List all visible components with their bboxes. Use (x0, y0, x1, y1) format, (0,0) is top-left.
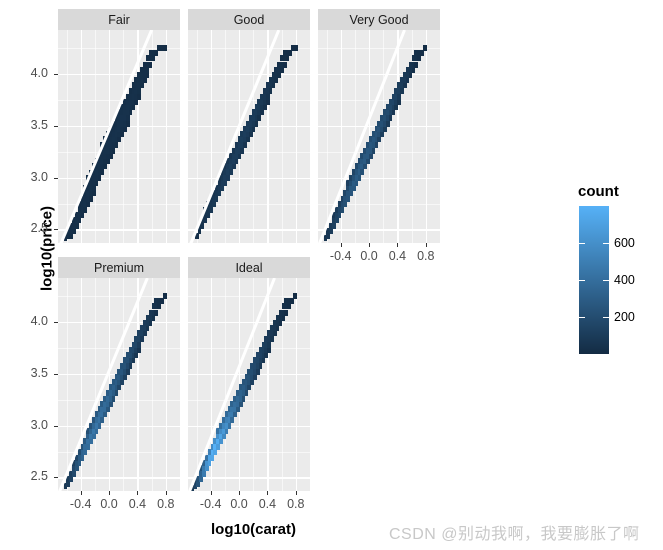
hex-bin (201, 223, 205, 229)
hex-bin (257, 115, 261, 121)
hex-bin (293, 293, 297, 299)
facet-panel-good (188, 30, 310, 243)
hex-bin (360, 169, 364, 175)
y-axis-tick-mark (54, 477, 58, 478)
hex-bin (152, 55, 156, 61)
facet-strip-label: Very Good (349, 13, 408, 27)
gridline-major-horizontal (188, 477, 310, 478)
hex-bin (332, 223, 336, 229)
hex-bin (352, 185, 356, 191)
hex-bin (290, 298, 294, 304)
x-axis-tick-label: 0.8 (271, 497, 321, 511)
gridline-minor-vertical (67, 278, 68, 491)
gridline-minor-horizontal (318, 48, 440, 49)
y-axis-tick-mark (54, 426, 58, 427)
hex-bin (163, 293, 167, 299)
hex-bin (106, 406, 110, 412)
hex-bin (242, 396, 246, 402)
facet-strip-label: Good (234, 13, 265, 27)
hex-bin (163, 45, 167, 51)
hex-bin (264, 352, 268, 358)
hex-bin (259, 363, 263, 369)
gridline-major-horizontal (318, 74, 440, 75)
hex-bin (266, 99, 270, 105)
y-axis-tick-mark (54, 126, 58, 127)
hex-bin (229, 169, 233, 175)
hex-bin (276, 325, 280, 331)
hex-bin (196, 481, 200, 487)
gridline-major-horizontal (188, 322, 310, 323)
hex-bin (375, 142, 379, 148)
gridline-minor-vertical (95, 30, 96, 243)
hex-bin (78, 217, 82, 223)
hex-bin (199, 476, 203, 482)
hex-bin (279, 320, 283, 326)
hex-bin (205, 465, 209, 471)
hex-bin (338, 212, 342, 218)
hex-bin (260, 109, 264, 115)
legend-tick-mark (579, 317, 585, 318)
facet-strip-ideal: Ideal (188, 257, 310, 278)
gridline-minor-vertical (327, 30, 328, 243)
hex-bin (213, 449, 217, 455)
hex-bin (206, 212, 210, 218)
legend-tick-label: 600 (614, 236, 635, 250)
gridline-major-vertical (166, 278, 167, 491)
hex-bin (215, 196, 219, 202)
hex-bin (366, 158, 370, 164)
hex-bin (247, 384, 251, 390)
gridline-major-vertical (296, 30, 297, 243)
hex-bin (250, 379, 254, 385)
hex-bin (249, 131, 253, 137)
gridline-major-horizontal (58, 178, 180, 179)
gridline-minor-horizontal (58, 296, 180, 297)
hex-bin (75, 465, 79, 471)
hex-bin (255, 121, 259, 127)
x-axis-tick-mark (397, 243, 398, 247)
gridline-minor-horizontal (58, 204, 180, 205)
hex-bin (109, 153, 113, 159)
hex-bin (146, 325, 150, 331)
hex-bin (95, 180, 99, 186)
gridline-minor-horizontal (58, 100, 180, 101)
gridline-major-vertical (426, 30, 427, 243)
hex-bin (326, 233, 330, 239)
hex-bin (100, 169, 104, 175)
hex-bin (100, 417, 104, 423)
hex-bin (120, 131, 124, 137)
hex-bin (397, 94, 401, 100)
hex-bin (228, 423, 232, 429)
y-axis-tick-label: 3.5 (0, 118, 48, 132)
hex-bin (256, 369, 260, 375)
hex-bin (269, 88, 273, 94)
hex-bin (203, 217, 207, 223)
hex-bin (219, 438, 223, 444)
hex-bin (75, 223, 79, 229)
x-axis-tick-mark (369, 243, 370, 247)
hex-bin (160, 298, 164, 304)
hex-bin (412, 67, 416, 73)
facet-strip-very-good: Very Good (318, 9, 440, 30)
gridline-major-horizontal (58, 322, 180, 323)
gridline-major-horizontal (318, 229, 440, 230)
hex-bin (243, 142, 247, 148)
x-axis-tick-mark (341, 243, 342, 247)
hex-bin (115, 390, 119, 396)
y-axis-tick-label: 2.5 (0, 221, 48, 235)
hex-bin (343, 201, 347, 207)
facet-strip-good: Good (188, 9, 310, 30)
legend-tick-label: 200 (614, 310, 635, 324)
hex-bin (140, 336, 144, 342)
gridline-minor-vertical (95, 278, 96, 491)
hex-bin (120, 379, 124, 385)
gridline-major-horizontal (58, 477, 180, 478)
hex-bin (270, 336, 274, 342)
gridline-minor-horizontal (318, 100, 440, 101)
gridline-minor-vertical (225, 30, 226, 243)
hex-bin (403, 82, 407, 88)
gridline-major-vertical (397, 30, 398, 243)
legend-tick-label: 400 (614, 273, 635, 287)
hex-bin (208, 460, 212, 466)
hex-bin (414, 62, 418, 68)
hex-bin (394, 104, 398, 110)
hex-bin (109, 401, 113, 407)
y-axis-tick-label: 2.5 (0, 469, 48, 483)
hex-bin (267, 342, 271, 348)
hex-bin (212, 201, 216, 207)
hex-bin (369, 153, 373, 159)
hex-bin (69, 233, 73, 239)
legend-tick-mark (579, 280, 585, 281)
hex-bin (126, 121, 130, 127)
hex-bin (211, 455, 215, 461)
hex-bin (221, 185, 225, 191)
hex-bin (134, 99, 138, 105)
hex-bin (81, 455, 85, 461)
gridline-major-vertical (267, 30, 268, 243)
hex-bin (117, 136, 121, 142)
y-axis-tick-label: 3.0 (0, 170, 48, 184)
y-axis-tick-mark (54, 322, 58, 323)
gridline-minor-vertical (225, 278, 226, 491)
facet-strip-fair: Fair (58, 9, 180, 30)
hex-bin (377, 136, 381, 142)
hex-bin (149, 320, 153, 326)
hex-bin (218, 190, 222, 196)
gridline-minor-horizontal (58, 452, 180, 453)
hex-bin (143, 77, 147, 83)
hex-bin (132, 104, 136, 110)
hex-bin (222, 433, 226, 439)
hex-bin (83, 449, 87, 455)
hex-bin (226, 175, 230, 181)
hex-bin (246, 136, 250, 142)
gridline-minor-horizontal (188, 452, 310, 453)
y-axis-tick-mark (54, 229, 58, 230)
gridline-major-horizontal (188, 426, 310, 427)
hex-bin (273, 330, 277, 336)
hex-bin (143, 330, 147, 336)
gridline-minor-vertical (355, 30, 356, 243)
hex-bin (232, 163, 236, 169)
y-axis-tick-mark (54, 74, 58, 75)
hex-bin (420, 50, 424, 56)
gridline-major-vertical (137, 278, 138, 491)
hex-bin (252, 126, 256, 132)
y-axis-tick-mark (54, 374, 58, 375)
legend-tick-mark (603, 243, 609, 244)
gridline-major-vertical (137, 30, 138, 243)
hex-bin (72, 471, 76, 477)
hex-bin (69, 476, 73, 482)
legend-tick-mark (603, 280, 609, 281)
facet-panel-very-good (318, 30, 440, 243)
hex-bin (92, 433, 96, 439)
gridline-major-vertical (296, 278, 297, 491)
gridline-major-horizontal (188, 229, 310, 230)
hex-bin (392, 109, 396, 115)
facet-panel-ideal (188, 278, 310, 491)
hex-bin (117, 384, 121, 390)
hex-bin (157, 303, 161, 309)
hex-bin (397, 99, 401, 105)
hex-bin (86, 201, 90, 207)
y-axis-tick-label: 4.0 (0, 66, 48, 80)
gridline-major-horizontal (318, 178, 440, 179)
hex-bin (81, 212, 85, 218)
gridline-minor-vertical (197, 278, 198, 491)
facet-strip-premium: Premium (58, 257, 180, 278)
hex-bin (363, 163, 367, 169)
hex-bin (267, 347, 271, 353)
hex-bin (286, 55, 290, 61)
legend-tick-mark (603, 317, 609, 318)
hex-bin (112, 396, 116, 402)
hex-bin (86, 444, 90, 450)
hex-bin (245, 390, 249, 396)
watermark-text: CSDN @别动我啊，我要膨胀了啊 (389, 520, 640, 544)
hex-bin (123, 374, 127, 380)
gridline-minor-horizontal (58, 348, 180, 349)
hex-bin (83, 207, 87, 213)
gridline-major-horizontal (188, 74, 310, 75)
gridline-major-vertical (267, 278, 268, 491)
hex-bin (216, 444, 220, 450)
hex-bin (152, 315, 156, 321)
y-axis-tick-mark (54, 178, 58, 179)
hex-bin (289, 50, 293, 56)
hex-bin (92, 185, 96, 191)
hex-bin (198, 228, 202, 234)
hex-bin (137, 88, 141, 94)
hex-bin (406, 77, 410, 83)
hex-bin (154, 310, 158, 316)
gridline-minor-vertical (253, 30, 254, 243)
hex-bin (78, 460, 82, 466)
hex-bin (132, 357, 136, 363)
hex-bin (355, 180, 359, 186)
hex-bin (225, 428, 229, 434)
hex-bin (233, 411, 237, 417)
gridline-minor-horizontal (318, 152, 440, 153)
hex-bin (282, 315, 286, 321)
hex-bin (98, 175, 102, 181)
gridline-major-horizontal (188, 178, 310, 179)
hex-bin (283, 62, 287, 68)
hex-bin (253, 374, 257, 380)
hex-bin (72, 228, 76, 234)
hex-bin (409, 72, 413, 78)
hex-bin (400, 88, 404, 94)
hex-bin (137, 347, 141, 353)
hex-bin (329, 228, 333, 234)
hex-bin (277, 72, 281, 78)
x-axis-tick-mark (109, 491, 110, 495)
hex-bin (240, 148, 244, 154)
hex-bin (389, 115, 393, 121)
hex-bin (202, 471, 206, 477)
hex-bin (386, 121, 390, 127)
hex-bin (294, 45, 298, 51)
legend-tick-mark (579, 243, 585, 244)
hex-bin (372, 148, 376, 154)
gridline-minor-vertical (67, 30, 68, 243)
hex-bin (98, 423, 102, 429)
hex-bin (89, 196, 93, 202)
y-axis-tick-label: 4.0 (0, 314, 48, 328)
hex-bin (89, 438, 93, 444)
hex-bin (230, 417, 234, 423)
hex-bin (423, 45, 427, 51)
x-axis-tick-mark (426, 243, 427, 247)
gridline-minor-horizontal (188, 296, 310, 297)
y-axis-tick-label: 3.0 (0, 418, 48, 432)
gridline-major-horizontal (58, 229, 180, 230)
hex-bin (235, 158, 239, 164)
hex-bin (239, 401, 243, 407)
hex-bin (146, 72, 150, 78)
hex-bin (126, 369, 130, 375)
hex-bin (236, 406, 240, 412)
hex-bin (280, 67, 284, 73)
hex-bin (383, 126, 387, 132)
ggplot-facet-chart: log10(price) log10(carat) Fair2.53.03.54… (0, 0, 663, 550)
x-axis-tick-mark (296, 491, 297, 495)
facet-panel-fair (58, 30, 180, 243)
hex-bin (266, 94, 270, 100)
hex-bin (137, 342, 141, 348)
x-axis-tick-mark (211, 491, 212, 495)
gridline-major-vertical (166, 30, 167, 243)
hex-bin (129, 109, 133, 115)
gridline-minor-horizontal (318, 204, 440, 205)
hex-bin (126, 115, 130, 121)
gridline-minor-horizontal (188, 100, 310, 101)
hex-bin (140, 82, 144, 88)
x-axis-tick-mark (267, 491, 268, 495)
x-axis-tick-mark (81, 491, 82, 495)
gridline-minor-vertical (197, 30, 198, 243)
hex-bin (195, 233, 199, 239)
hex-bin (272, 82, 276, 88)
x-axis-tick-label: 0.8 (401, 249, 451, 263)
hex-bin (287, 303, 291, 309)
hex-bin (103, 411, 107, 417)
hex-bin (417, 55, 421, 61)
x-axis-tick-mark (137, 491, 138, 495)
hex-bin (154, 50, 158, 56)
hex-bin (341, 207, 345, 213)
x-axis-tick-mark (166, 491, 167, 495)
x-axis-tick-mark (239, 491, 240, 495)
gridline-minor-horizontal (58, 400, 180, 401)
hex-bin (223, 180, 227, 186)
hex-bin (103, 163, 107, 169)
y-axis-tick-label: 3.5 (0, 366, 48, 380)
gridline-minor-horizontal (188, 152, 310, 153)
facet-strip-label: Fair (108, 13, 130, 27)
hex-bin (146, 67, 150, 73)
gridline-minor-horizontal (188, 400, 310, 401)
gridline-major-horizontal (58, 74, 180, 75)
hex-bin (263, 104, 267, 110)
hex-bin (284, 310, 288, 316)
hex-bin (274, 77, 278, 83)
hex-bin (238, 153, 242, 159)
gridline-minor-horizontal (58, 152, 180, 153)
gridline-minor-horizontal (188, 348, 310, 349)
hex-bin (358, 175, 362, 181)
hex-bin (129, 363, 133, 369)
hex-bin (209, 207, 213, 213)
hex-bin (106, 158, 110, 164)
x-axis-tick-label: 0.8 (141, 497, 191, 511)
gridline-major-horizontal (58, 426, 180, 427)
legend-title: count (578, 183, 619, 200)
hex-bin (380, 131, 384, 137)
hex-bin (66, 481, 70, 487)
hex-bin (95, 428, 99, 434)
hex-bin (137, 94, 141, 100)
hex-bin (134, 352, 138, 358)
facet-panel-premium (58, 278, 180, 491)
hex-bin (349, 190, 353, 196)
facet-strip-label: Premium (94, 261, 144, 275)
facet-strip-label: Ideal (235, 261, 262, 275)
hex-bin (115, 142, 119, 148)
hex-bin (346, 196, 350, 202)
hex-bin (335, 217, 339, 223)
hex-bin (112, 148, 116, 154)
hex-bin (262, 357, 266, 363)
hex-bin (92, 190, 96, 196)
hex-bin (149, 62, 153, 68)
hex-bin (123, 126, 127, 132)
